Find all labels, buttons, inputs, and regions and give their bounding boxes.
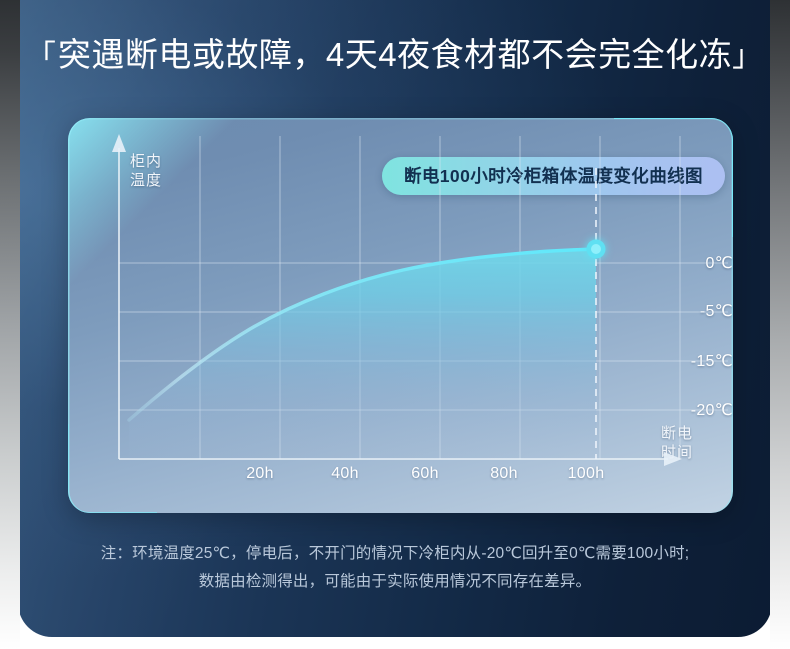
page-edge-strip-right	[770, 0, 790, 649]
x-tick-label-0: 20h	[220, 465, 300, 483]
x-axis-title: 断电 时间	[661, 424, 693, 462]
panel-rim-bottom-left	[68, 424, 157, 513]
endpoint-marker-core	[591, 244, 601, 254]
chart-footnote: 注：环境温度25℃，停电后，不开门的情况下冷柜内从-20℃回升至0℃需要100小…	[18, 540, 772, 596]
x-tick-label-1: 40h	[305, 465, 385, 483]
chart-panel: 断电100小时冷柜箱体温度变化曲线图 柜内 温度 断电 时间 0℃ -5℃ -1…	[68, 118, 733, 513]
y-axis-title: 柜内 温度	[130, 152, 162, 190]
y-tick-label-1: -5℃	[623, 301, 733, 321]
endpoint-marker	[587, 240, 606, 259]
x-tick-label-2: 60h	[385, 465, 465, 483]
y-axis-arrow	[112, 134, 126, 152]
footnote-line-1: 注：环境温度25℃，停电后，不开门的情况下冷柜内从-20℃回升至0℃需要100小…	[18, 540, 772, 568]
hero-card: 「突遇断电或故障，4天4夜食材都不会完全化冻」 断电100小时冷柜箱体温度变化曲…	[18, 0, 772, 637]
y-axis-title-line-2: 温度	[130, 171, 162, 190]
grid-horizontal	[119, 263, 728, 410]
chart-title-badge: 断电100小时冷柜箱体温度变化曲线图	[382, 157, 725, 195]
y-tick-label-2: -15℃	[623, 351, 733, 371]
page-title: 「突遇断电或故障，4天4夜食材都不会完全化冻」	[18, 31, 772, 81]
y-axis-title-line-1: 柜内	[130, 152, 162, 171]
x-axis-title-line-2: 时间	[661, 443, 693, 462]
x-axis-title-line-1: 断电	[661, 424, 693, 443]
headline-close-bracket: 」	[732, 40, 764, 73]
chart-line	[129, 249, 596, 420]
headline-text: 突遇断电或故障，4天4夜食材都不会完全化冻	[58, 36, 732, 73]
x-tick-label-4: 100h	[544, 465, 628, 483]
chart-area-fill	[129, 249, 596, 459]
y-tick-label-3: -20℃	[623, 400, 733, 420]
screenshot-root: 「突遇断电或故障，4天4夜食材都不会完全化冻」 断电100小时冷柜箱体温度变化曲…	[0, 0, 790, 649]
endpoint-marker-shadow	[586, 239, 606, 259]
x-tick-label-3: 80h	[464, 465, 544, 483]
footnote-line-2: 数据由检测得出，可能由于实际使用情况不同存在差异。	[18, 568, 772, 596]
page-edge-strip-left	[0, 0, 20, 649]
headline-open-bracket: 「	[26, 40, 58, 73]
y-tick-label-0: 0℃	[623, 253, 733, 273]
